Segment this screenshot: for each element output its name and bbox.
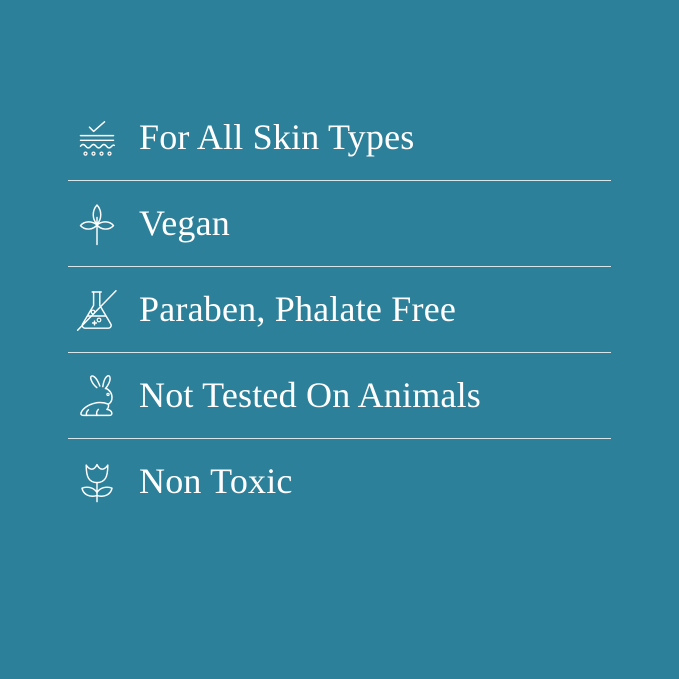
tulip-flower-icon xyxy=(70,455,124,509)
divider-4 xyxy=(68,438,611,439)
divider-1 xyxy=(68,180,611,181)
benefit-row-not-tested: Not Tested On Animals xyxy=(68,353,611,438)
product-benefits-panel: For All Skin Types Vegan xyxy=(0,0,679,679)
benefit-label: For All Skin Types xyxy=(139,119,414,157)
benefit-label: Not Tested On Animals xyxy=(139,377,481,415)
flask-crossed-out-icon xyxy=(70,283,124,337)
skin-layers-check-icon xyxy=(70,111,124,165)
benefit-row-skin-types: For All Skin Types xyxy=(68,95,611,180)
benefits-list: For All Skin Types Vegan xyxy=(68,95,611,524)
benefit-label: Non Toxic xyxy=(139,463,293,501)
benefit-label: Paraben, Phalate Free xyxy=(139,291,456,329)
divider-3 xyxy=(68,352,611,353)
divider-2 xyxy=(68,266,611,267)
benefit-label: Vegan xyxy=(139,205,230,243)
benefit-row-non-toxic: Non Toxic xyxy=(68,439,611,524)
benefit-row-vegan: Vegan xyxy=(68,181,611,266)
rabbit-icon xyxy=(70,369,124,423)
benefit-row-paraben-free: Paraben, Phalate Free xyxy=(68,267,611,352)
leaf-sprout-icon xyxy=(70,197,124,251)
